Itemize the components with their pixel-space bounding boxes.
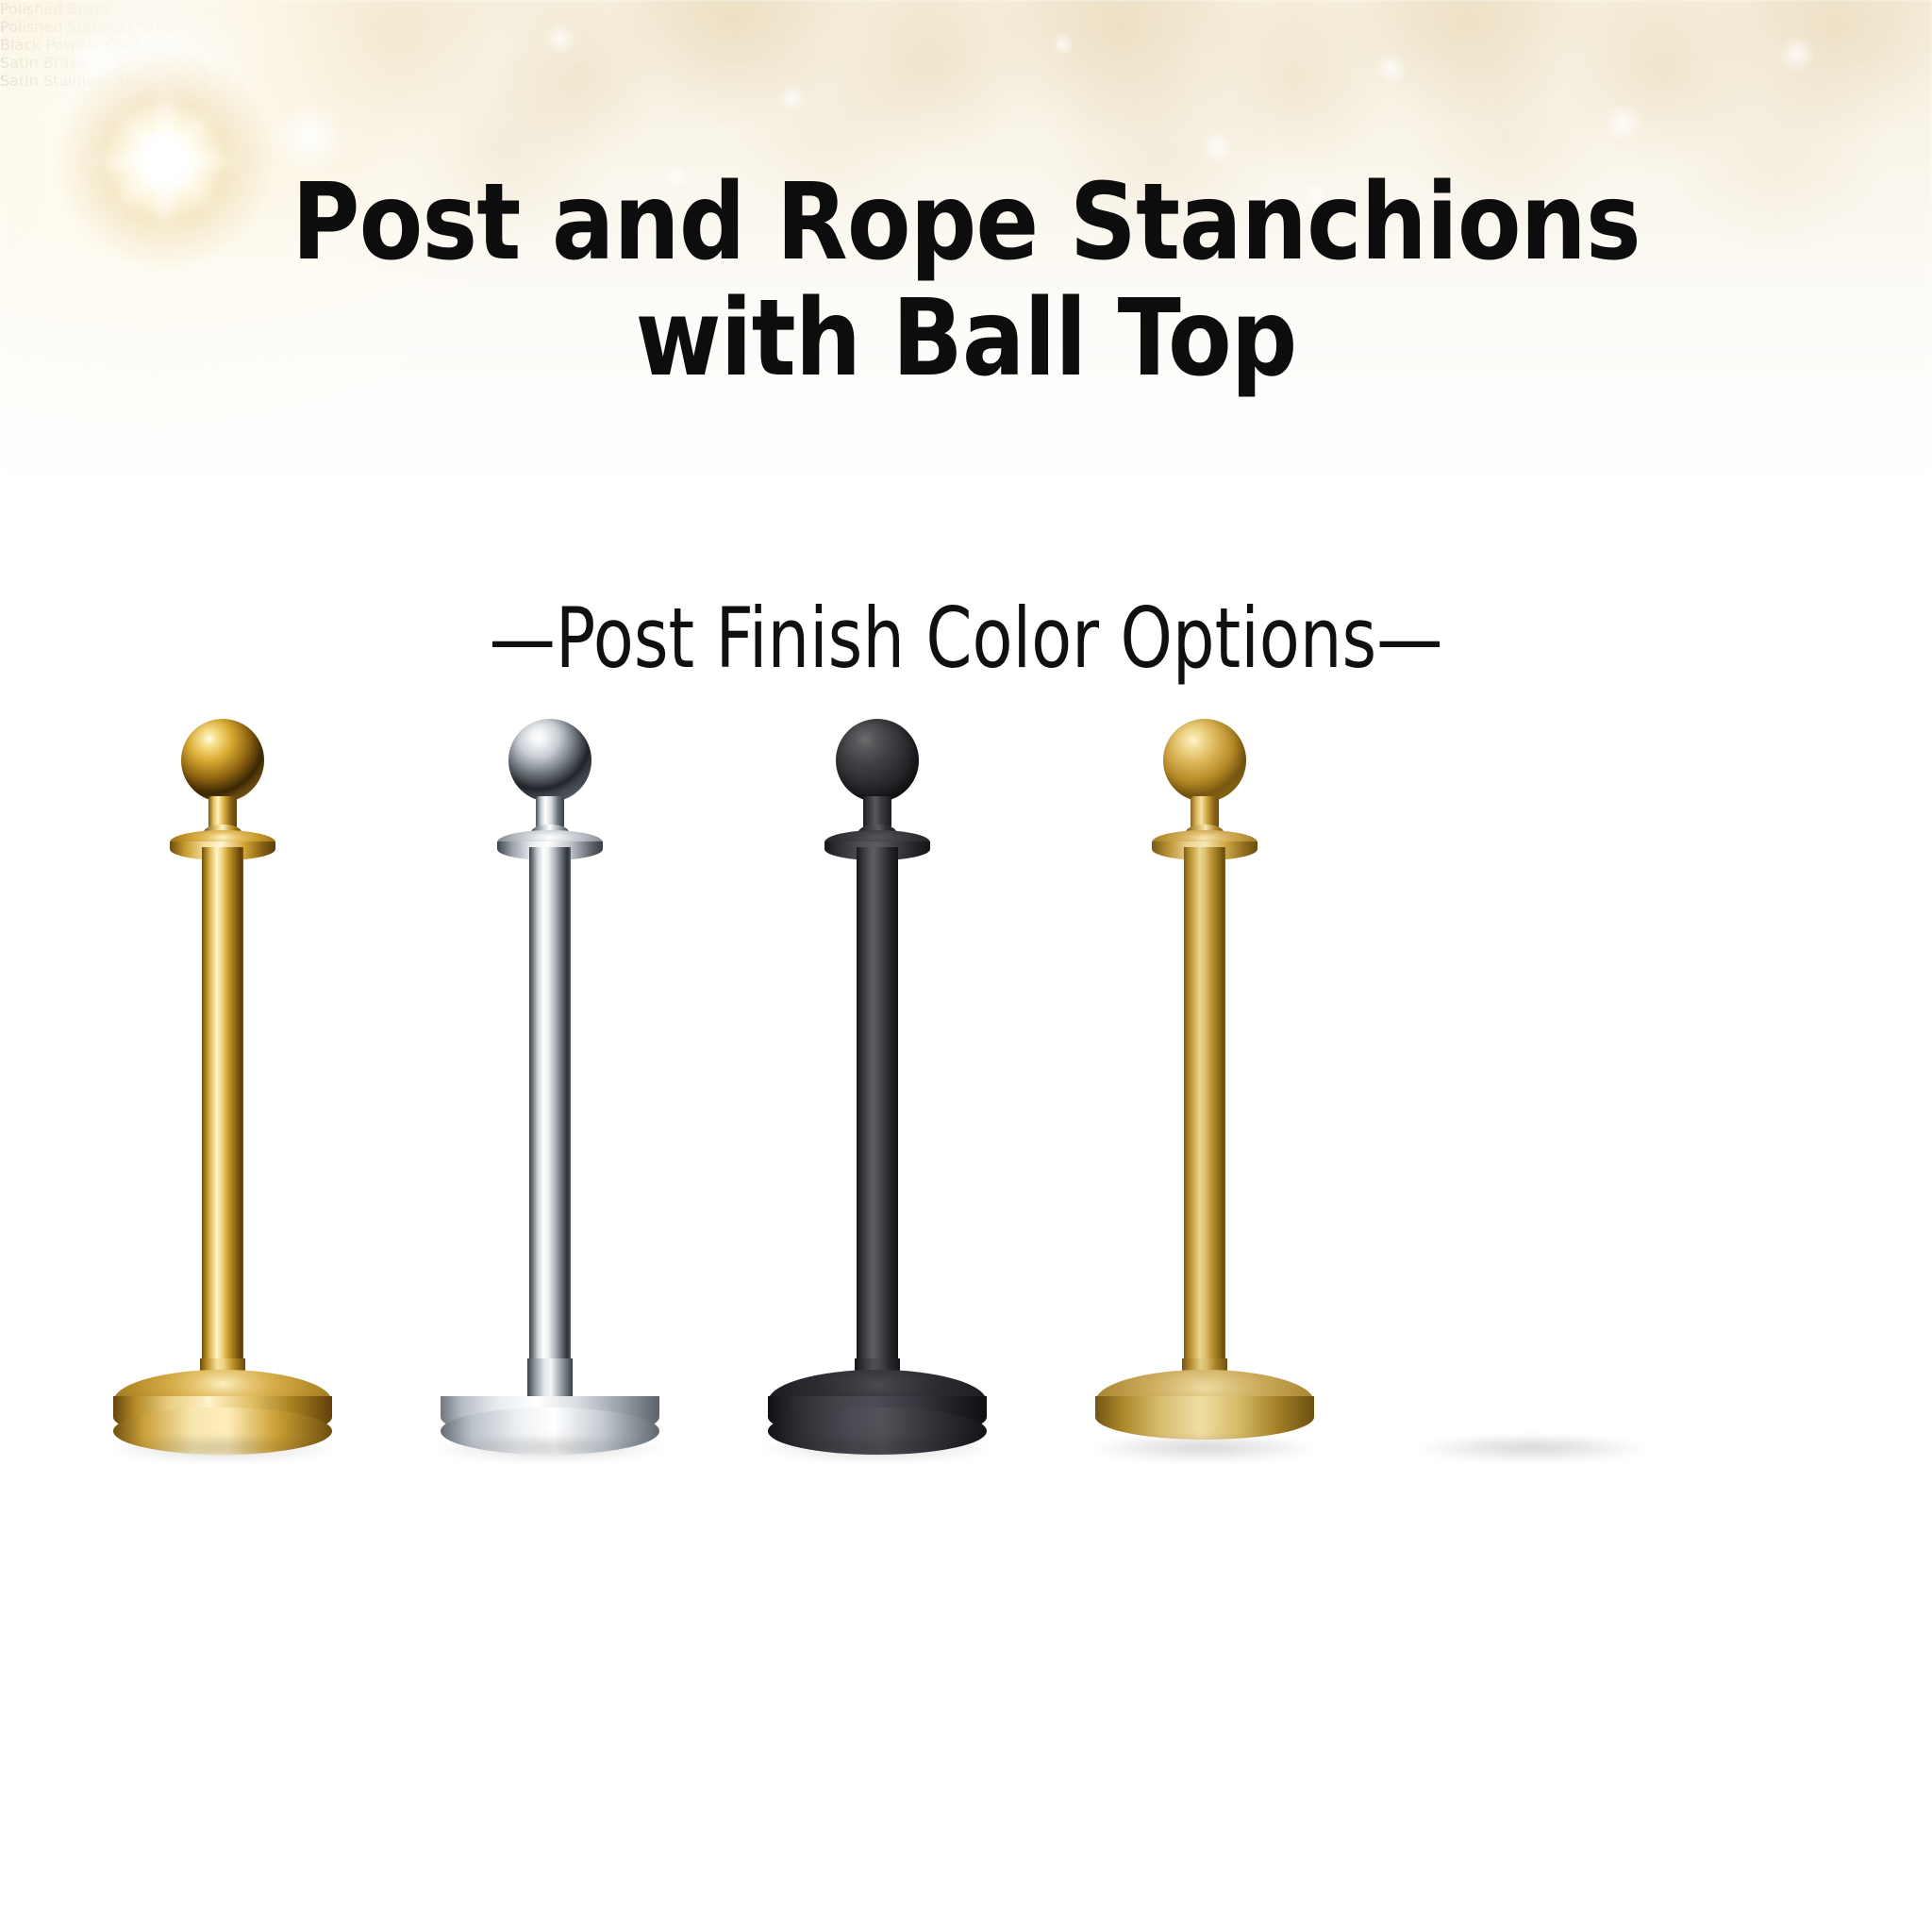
finish-options-row <box>0 698 1932 1509</box>
stanchion-illustration <box>1073 698 1337 1509</box>
post-shaft <box>857 847 898 1394</box>
finish-option-polished-stainless-steel[interactable] <box>418 698 682 1509</box>
ball-top-icon <box>508 719 591 802</box>
ball-top-icon <box>1163 719 1246 802</box>
stanchion-illustration <box>745 698 1009 1509</box>
ground-shadow <box>437 1438 663 1462</box>
stanchion-illustration <box>1400 698 1664 1509</box>
post-shaft <box>1184 847 1225 1394</box>
stanchion-illustration <box>91 698 355 1509</box>
stanchion-illustration <box>418 698 682 1509</box>
ground-shadow <box>1419 1438 1645 1462</box>
ball-top-icon <box>1491 719 1574 802</box>
post-shaft <box>202 847 243 1394</box>
ground-shadow <box>764 1438 991 1462</box>
finish-option-satin-stainless-steel[interactable] <box>1400 698 1664 1509</box>
page-title: Post and Rope Stanchions with Ball Top <box>116 165 1816 397</box>
ball-top-icon <box>181 719 264 802</box>
post-shaft <box>1511 847 1553 1394</box>
finish-option-satin-brass[interactable] <box>1073 698 1337 1509</box>
product-finish-options-page: Post and Rope Stanchions with Ball Top —… <box>0 0 1932 1932</box>
finish-option-black-powder-coat[interactable] <box>745 698 1009 1509</box>
ground-shadow <box>1091 1438 1318 1462</box>
ball-top-icon <box>836 719 919 802</box>
finish-option-polished-brass[interactable] <box>91 698 355 1509</box>
section-subtitle: —Post Finish Color Options— <box>193 597 1739 680</box>
post-shaft <box>529 847 571 1394</box>
ground-shadow <box>109 1438 336 1462</box>
